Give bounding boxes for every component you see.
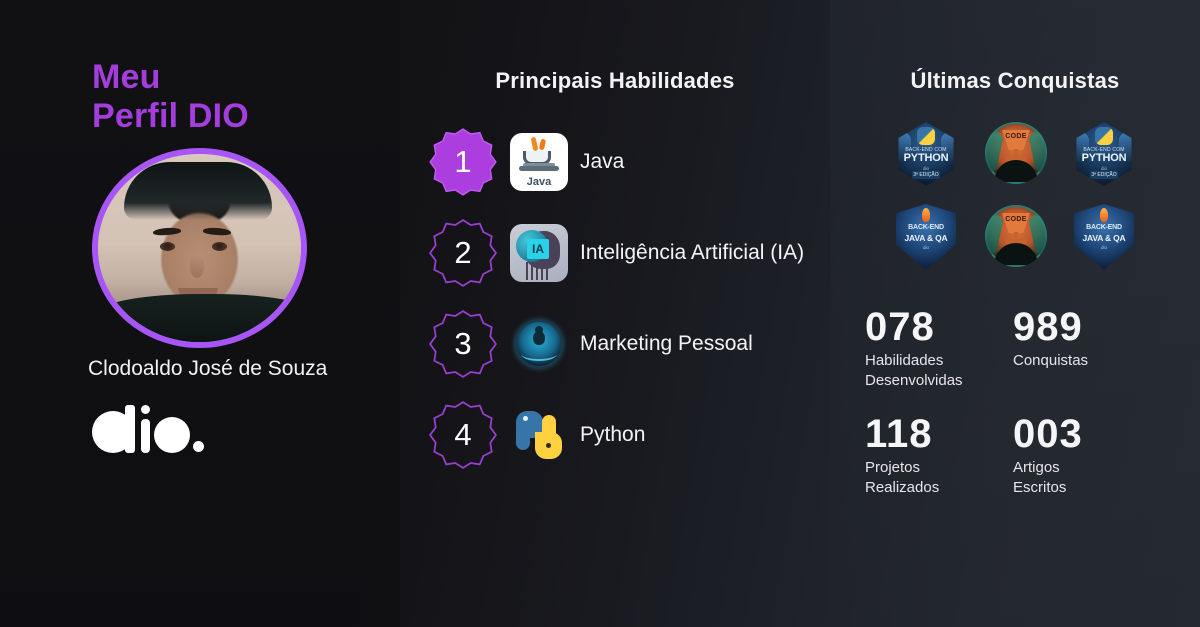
photo-nose [190,254,204,278]
java-saucer [519,166,559,171]
stat-label-line2: Realizados [865,478,1013,498]
badge-backend-java-qa[interactable]: BACK-END JAVA & QA dio [886,197,966,280]
stat-value: 118 [865,413,1013,455]
skill-row[interactable]: 3 Marketing Pessoal [400,298,830,389]
java-flame-icon [922,208,930,222]
ai-brain-icon: IA [510,224,568,282]
rank-badge-4: 4 [428,400,498,470]
python-logo-icon [1095,127,1113,145]
photo-shirt [92,294,307,346]
logo-period [193,441,204,452]
skill-row[interactable]: 1 Java Java [400,116,830,207]
dio-logo-icon [92,405,204,453]
python-eye-yellow [546,443,551,448]
ai-circuit-lines [526,262,550,280]
profile-name: Clodoaldo José de Souza [88,355,338,383]
profile-panel: Meu Perfil DIO Clodoaldo José de Souza [0,0,400,627]
achievements-section-title: Últimas Conquistas [830,68,1200,94]
java-icon: Java [510,133,568,191]
badge-backend-python[interactable]: BACK-END COM PYTHON dio 3ª EDIÇÃO [1064,114,1144,197]
stat-label-line2: Desenvolvidas [865,371,1013,391]
dio-profile-card: Meu Perfil DIO Clodoaldo José de Souza [0,0,1200,627]
badge-line2: JAVA & QA [1074,233,1134,243]
page-title-line2: Perfil DIO [92,97,400,136]
stat-value: 989 [1013,306,1165,348]
badge-backend-java-qa[interactable]: BACK-END JAVA & QA dio [1064,197,1144,280]
skill-label: Python [580,423,645,447]
photo-brow-left [153,227,181,236]
skill-label: Marketing Pessoal [580,332,753,356]
badge-line4: 3ª EDIÇÃO [912,171,940,179]
badge-backend-python[interactable]: BACK-END COM PYTHON dio 3ª EDIÇÃO [886,114,966,197]
skill-label: Inteligência Artificial (IA) [580,241,804,265]
badge-code-trophy[interactable]: CODE [975,197,1055,280]
skill-row[interactable]: 2 IA Inteligência Artificial (IA) [400,207,830,298]
logo-o-circle [154,417,190,453]
stat-label-line1: Artigos [1013,458,1165,478]
shield-badge-frame: BACK-END JAVA & QA dio [1074,204,1134,270]
avatar [92,148,307,348]
photo-eye-right [212,242,227,251]
python-eye-blue [523,416,528,421]
badge-nameplate [994,160,1038,182]
rank-number: 3 [454,326,471,362]
shield-badge-frame: BACK-END JAVA & QA dio [896,204,956,270]
stat-label: Artigos Escritos [1013,458,1165,498]
badge-line2: PYTHON [1072,152,1136,164]
stat-label: Habilidades Desenvolvidas [865,351,1013,391]
badge-line2: PYTHON [894,152,958,164]
photo-brow-right [203,227,231,236]
badge-line3: dio [896,245,956,250]
java-wordmark: Java [510,176,568,188]
achievement-badge-grid: BACK-END COM PYTHON dio 3ª EDIÇÃO CODE [886,114,1144,280]
photo-hair [124,162,272,220]
hexagon-badge-frame: BACK-END COM PYTHON dio 3ª EDIÇÃO [894,122,958,186]
skills-list: 1 Java Java 2 [400,116,830,480]
python-snake-blue-tail [516,428,530,450]
emblem-arc [521,347,557,361]
skill-row[interactable]: 4 Python [400,389,830,480]
circle-badge-frame: CODE [985,122,1047,184]
stat-label-line1: Projetos [865,458,1013,478]
rank-number: 4 [454,417,471,453]
logo-d-stem [125,405,135,453]
stat-label-line1: Conquistas [1013,351,1165,371]
trophy-label: CODE [985,216,1047,223]
photo-eye-left [160,242,175,251]
stat-value: 078 [865,306,1013,348]
rank-badge-1: 1 [428,127,498,197]
logo-i-stem [141,419,150,453]
badge-nameplate [994,243,1038,265]
badge-code-trophy[interactable]: CODE [975,114,1055,197]
java-flame-icon [1100,208,1108,222]
stat-skills: 078 Habilidades Desenvolvidas [865,306,1013,391]
page-title-line1: Meu [92,58,161,96]
rank-badge-3: 3 [428,309,498,379]
circle-badge-frame: CODE [985,205,1047,267]
badge-line1: BACK-END [896,224,956,231]
rank-badge-2: 2 [428,218,498,288]
rank-number: 2 [454,235,471,271]
emblem-figure-body [533,331,545,345]
badge-line2: JAVA & QA [896,233,956,243]
java-steam-left [531,136,539,151]
avatar-wrapper [92,160,307,335]
stats-grid: 078 Habilidades Desenvolvidas 989 Conqui… [865,306,1165,498]
ai-label-box: IA [527,239,549,259]
rank-number: 1 [454,144,471,180]
profile-photo [98,154,301,342]
python-icon [510,406,568,464]
marketing-emblem-icon [510,315,568,373]
badge-line1: BACK-END [1074,224,1134,231]
stat-label: Conquistas [1013,351,1165,371]
page-title: Meu Perfil DIO [92,58,400,136]
stat-label-line2: Escritos [1013,478,1165,498]
achievements-panel: Últimas Conquistas BACK-END COM PYTHON d… [830,0,1200,627]
python-logo-icon [917,127,935,145]
stat-projects: 118 Projetos Realizados [865,413,1013,498]
badge-line3: dio [1074,245,1134,250]
stat-achievements: 989 Conquistas [1013,306,1165,391]
badge-line4: 3ª EDIÇÃO [1090,171,1118,179]
java-steam-right [539,138,546,150]
skills-section-title: Principais Habilidades [400,68,830,94]
skills-panel: Principais Habilidades 1 Java Java [400,0,830,627]
stat-articles: 003 Artigos Escritos [1013,413,1165,498]
logo-i-dot [141,405,150,414]
hexagon-badge-frame: BACK-END COM PYTHON dio 3ª EDIÇÃO [1072,122,1136,186]
skill-label: Java [580,150,624,174]
trophy-label: CODE [985,133,1047,140]
stat-label-line1: Habilidades [865,351,1013,371]
stat-label: Projetos Realizados [865,458,1013,498]
stat-value: 003 [1013,413,1165,455]
